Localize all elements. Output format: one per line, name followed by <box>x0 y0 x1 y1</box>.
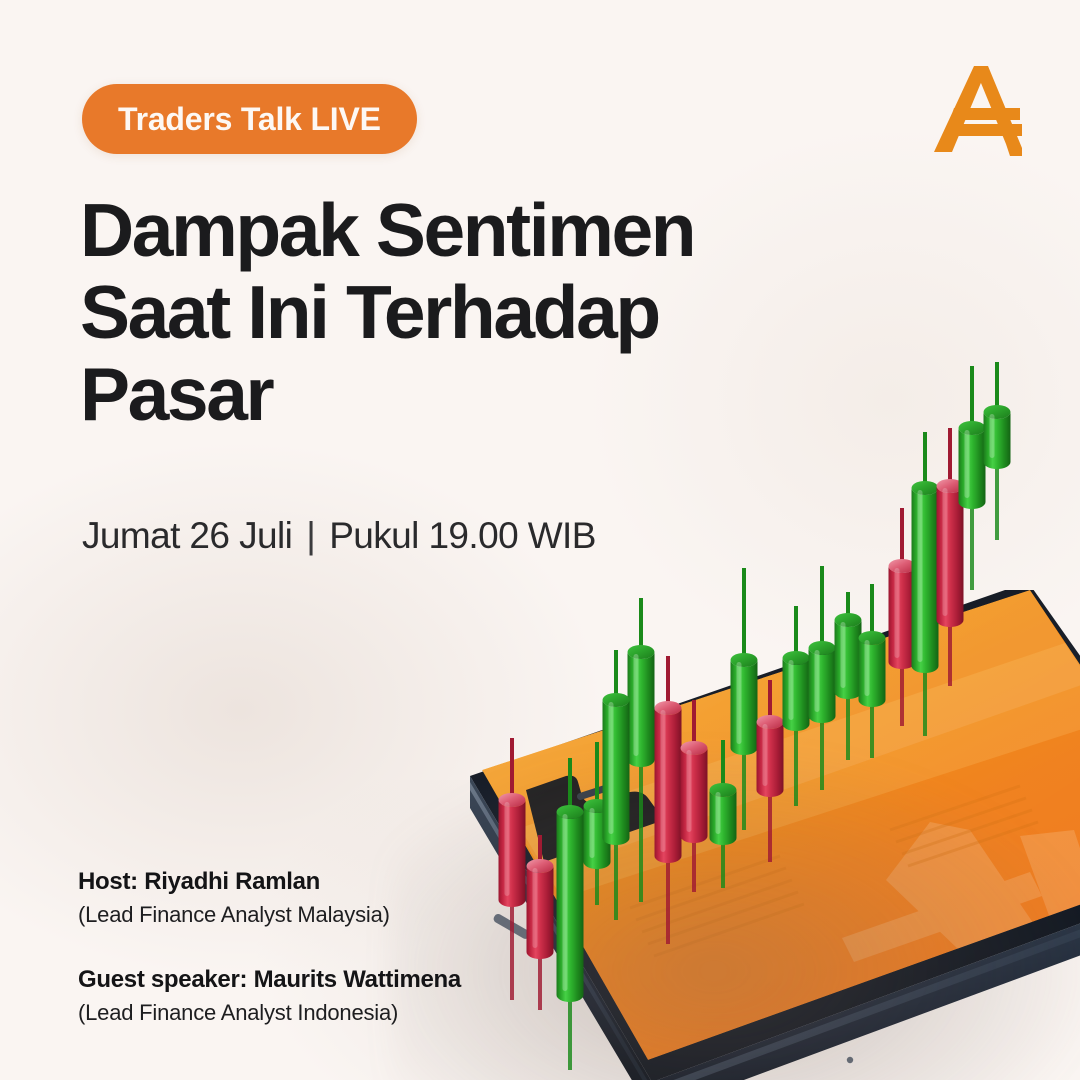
live-badge[interactable]: Traders Talk LIVE <box>82 84 417 154</box>
headline-line-2: Saat Ini Terhadap <box>80 272 840 354</box>
a-logo-icon <box>926 52 1038 164</box>
event-datetime: Jumat 26 Juli | Pukul 19.00 WIB <box>82 515 596 557</box>
candlestick-c10 <box>731 568 758 830</box>
guest-role: (Lead Finance Analyst Indonesia) <box>78 998 461 1028</box>
candlestick-c2 <box>527 835 554 1010</box>
page-title: Dampak Sentimen Saat Ini Terhadap Pasar <box>80 190 840 435</box>
candlestick-c7 <box>655 656 682 944</box>
host-name: Host: Riyadhi Ramlan <box>78 866 461 897</box>
candlestick-c4 <box>584 742 611 905</box>
candlestick-c20 <box>984 362 1011 540</box>
brand-logo <box>926 52 1038 164</box>
headline-line-1: Dampak Sentimen <box>80 190 840 272</box>
candlestick-c14 <box>835 592 862 760</box>
candlestick-c16 <box>889 508 916 726</box>
guest-block: Guest speaker: Maurits Wattimena (Lead F… <box>78 964 461 1028</box>
event-time: Pukul 19.00 WIB <box>329 515 596 557</box>
candlestick-c15 <box>859 584 886 758</box>
candlestick-c5 <box>628 598 655 902</box>
candlestick-c8 <box>681 700 708 892</box>
candlestick-c12 <box>783 606 810 806</box>
event-date: Jumat 26 Juli <box>82 515 292 557</box>
host-role: (Lead Finance Analyst Malaysia) <box>78 900 461 930</box>
poster-canvas: Traders Talk LIVE Dampak Sentimen Saat I… <box>0 0 1080 1080</box>
candlestick-c17 <box>912 432 939 736</box>
speakers-block: Host: Riyadhi Ramlan (Lead Finance Analy… <box>78 866 461 1028</box>
headline-line-3: Pasar <box>80 354 840 436</box>
candlestick-c18 <box>937 428 964 686</box>
candlestick-c3 <box>557 758 584 1070</box>
phone-shadow <box>390 740 1080 1080</box>
candlestick-c19 <box>959 366 986 590</box>
guest-name: Guest speaker: Maurits Wattimena <box>78 964 461 995</box>
candlestick-c13 <box>809 566 836 790</box>
candlestick-c6 <box>603 650 630 920</box>
datetime-separator: | <box>306 515 315 557</box>
candlestick-c11 <box>757 680 784 862</box>
live-badge-label: Traders Talk LIVE <box>118 101 381 138</box>
candlestick-c1 <box>499 738 526 1000</box>
host-block: Host: Riyadhi Ramlan (Lead Finance Analy… <box>78 866 461 930</box>
candlestick-c9 <box>710 740 737 888</box>
